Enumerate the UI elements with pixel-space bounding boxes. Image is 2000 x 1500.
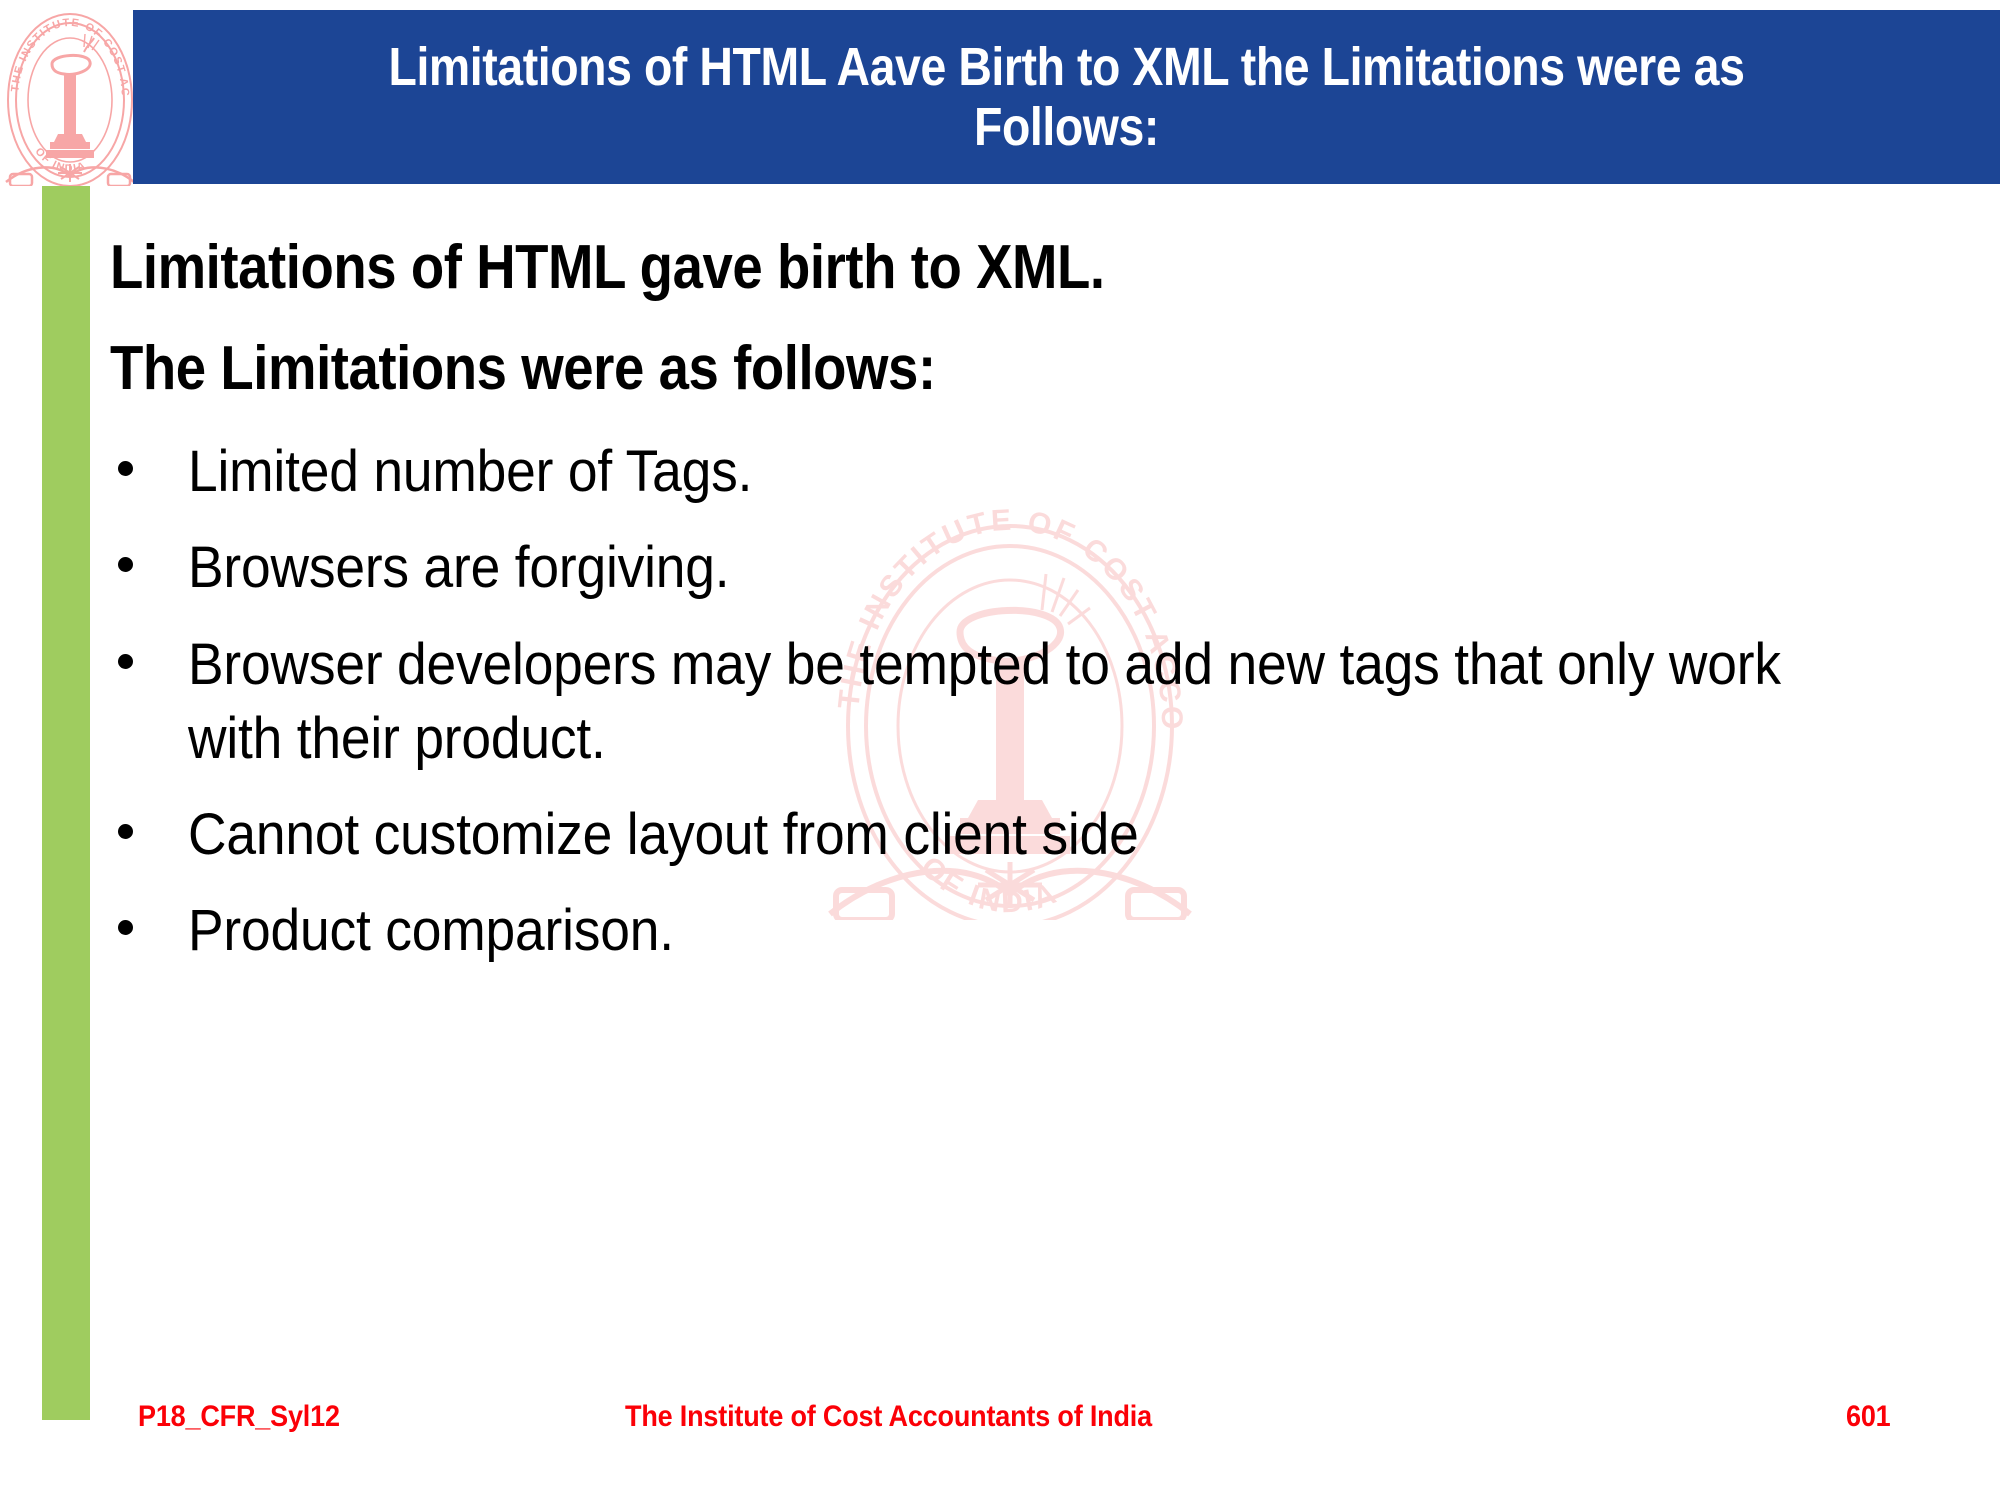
slide-title-bar: Limitations of HTML Aave Birth to XML th… <box>133 10 2000 184</box>
footer-institute-name: The Institute of Cost Accountants of Ind… <box>625 1400 1152 1434</box>
footer-page-number: 601 <box>1846 1400 1891 1434</box>
bullet-dot-icon <box>118 920 133 935</box>
slide-body: Limitations of HTML gave birth to XML. T… <box>110 222 1940 1342</box>
footer-syllabus-code: P18_CFR_Syl12 <box>138 1400 340 1434</box>
bullet-dot-icon <box>118 461 133 476</box>
slide-root: THE INSTITUTE OF COST ACCOUNTANTS OF IND… <box>0 0 2000 1500</box>
list-item: Limited number of Tags. <box>110 435 1940 509</box>
list-item-label: Cannot customize layout from client side <box>188 798 1800 872</box>
list-item-label: Browsers are forgiving. <box>188 531 1800 605</box>
bullet-dot-icon <box>118 824 133 839</box>
bullet-dot-icon <box>118 654 133 669</box>
lead-line-1: Limitations of HTML gave birth to XML. <box>110 228 1720 309</box>
list-item: Browser developers may be tempted to add… <box>110 628 1940 776</box>
list-item-label: Product comparison. <box>188 894 1800 968</box>
list-item-label: Browser developers may be tempted to add… <box>188 628 1800 776</box>
bullet-dot-icon <box>118 557 133 572</box>
page-title: Limitations of HTML Aave Birth to XML th… <box>315 37 1817 158</box>
institute-seal-logo: THE INSTITUTE OF COST ACCOUNTANTS OF IND… <box>0 0 140 186</box>
list-item: Browsers are forgiving. <box>110 531 1940 605</box>
lead-line-2: The Limitations were as follows: <box>110 329 1720 410</box>
list-item: Cannot customize layout from client side <box>110 798 1940 872</box>
slide-footer: P18_CFR_Syl12 The Institute of Cost Acco… <box>0 1400 2000 1460</box>
left-accent-band <box>42 186 90 1420</box>
list-item: Product comparison. <box>110 894 1940 968</box>
list-item-label: Limited number of Tags. <box>188 435 1800 509</box>
limitations-bullet-list: Limited number of Tags. Browsers are for… <box>110 435 1940 968</box>
